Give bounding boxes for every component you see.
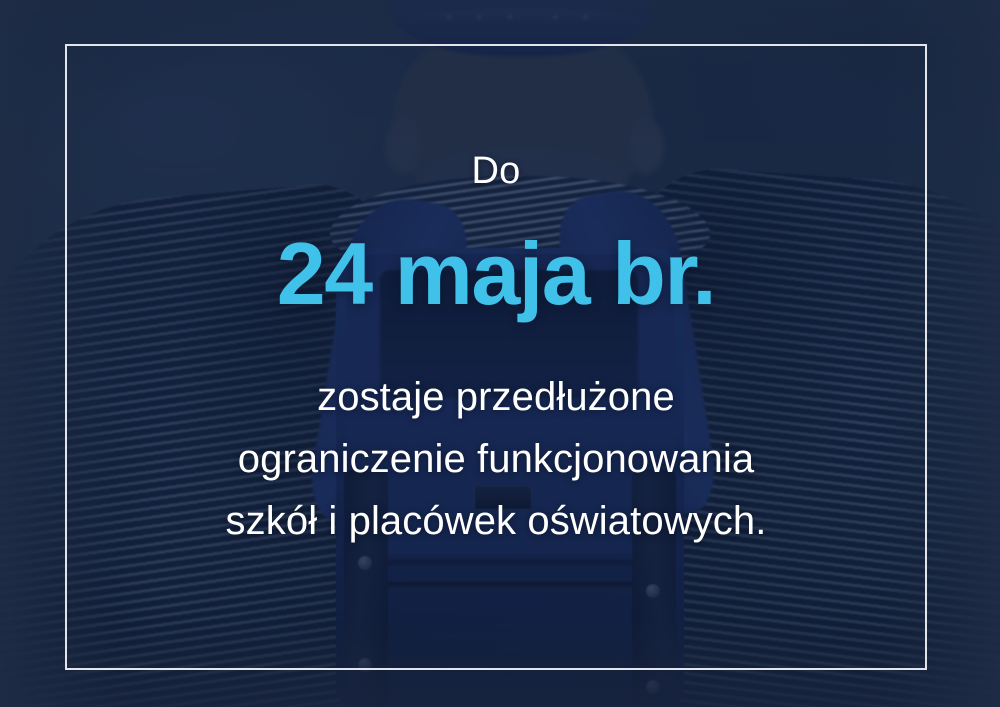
- message-block: Do 24 maja br. zostaje przedłużone ogran…: [65, 44, 927, 670]
- body-line-1: zostaje przedłużone: [226, 366, 767, 428]
- body-text: zostaje przedłużone ograniczenie funkcjo…: [226, 366, 767, 552]
- poster: Do 24 maja br. zostaje przedłużone ogran…: [0, 0, 1000, 707]
- kicker-text: Do: [472, 152, 521, 190]
- headline-date: 24 maja br.: [277, 230, 715, 318]
- body-line-2: ograniczenie funkcjonowania: [226, 428, 767, 490]
- body-line-3: szkół i placówek oświatowych.: [226, 490, 767, 552]
